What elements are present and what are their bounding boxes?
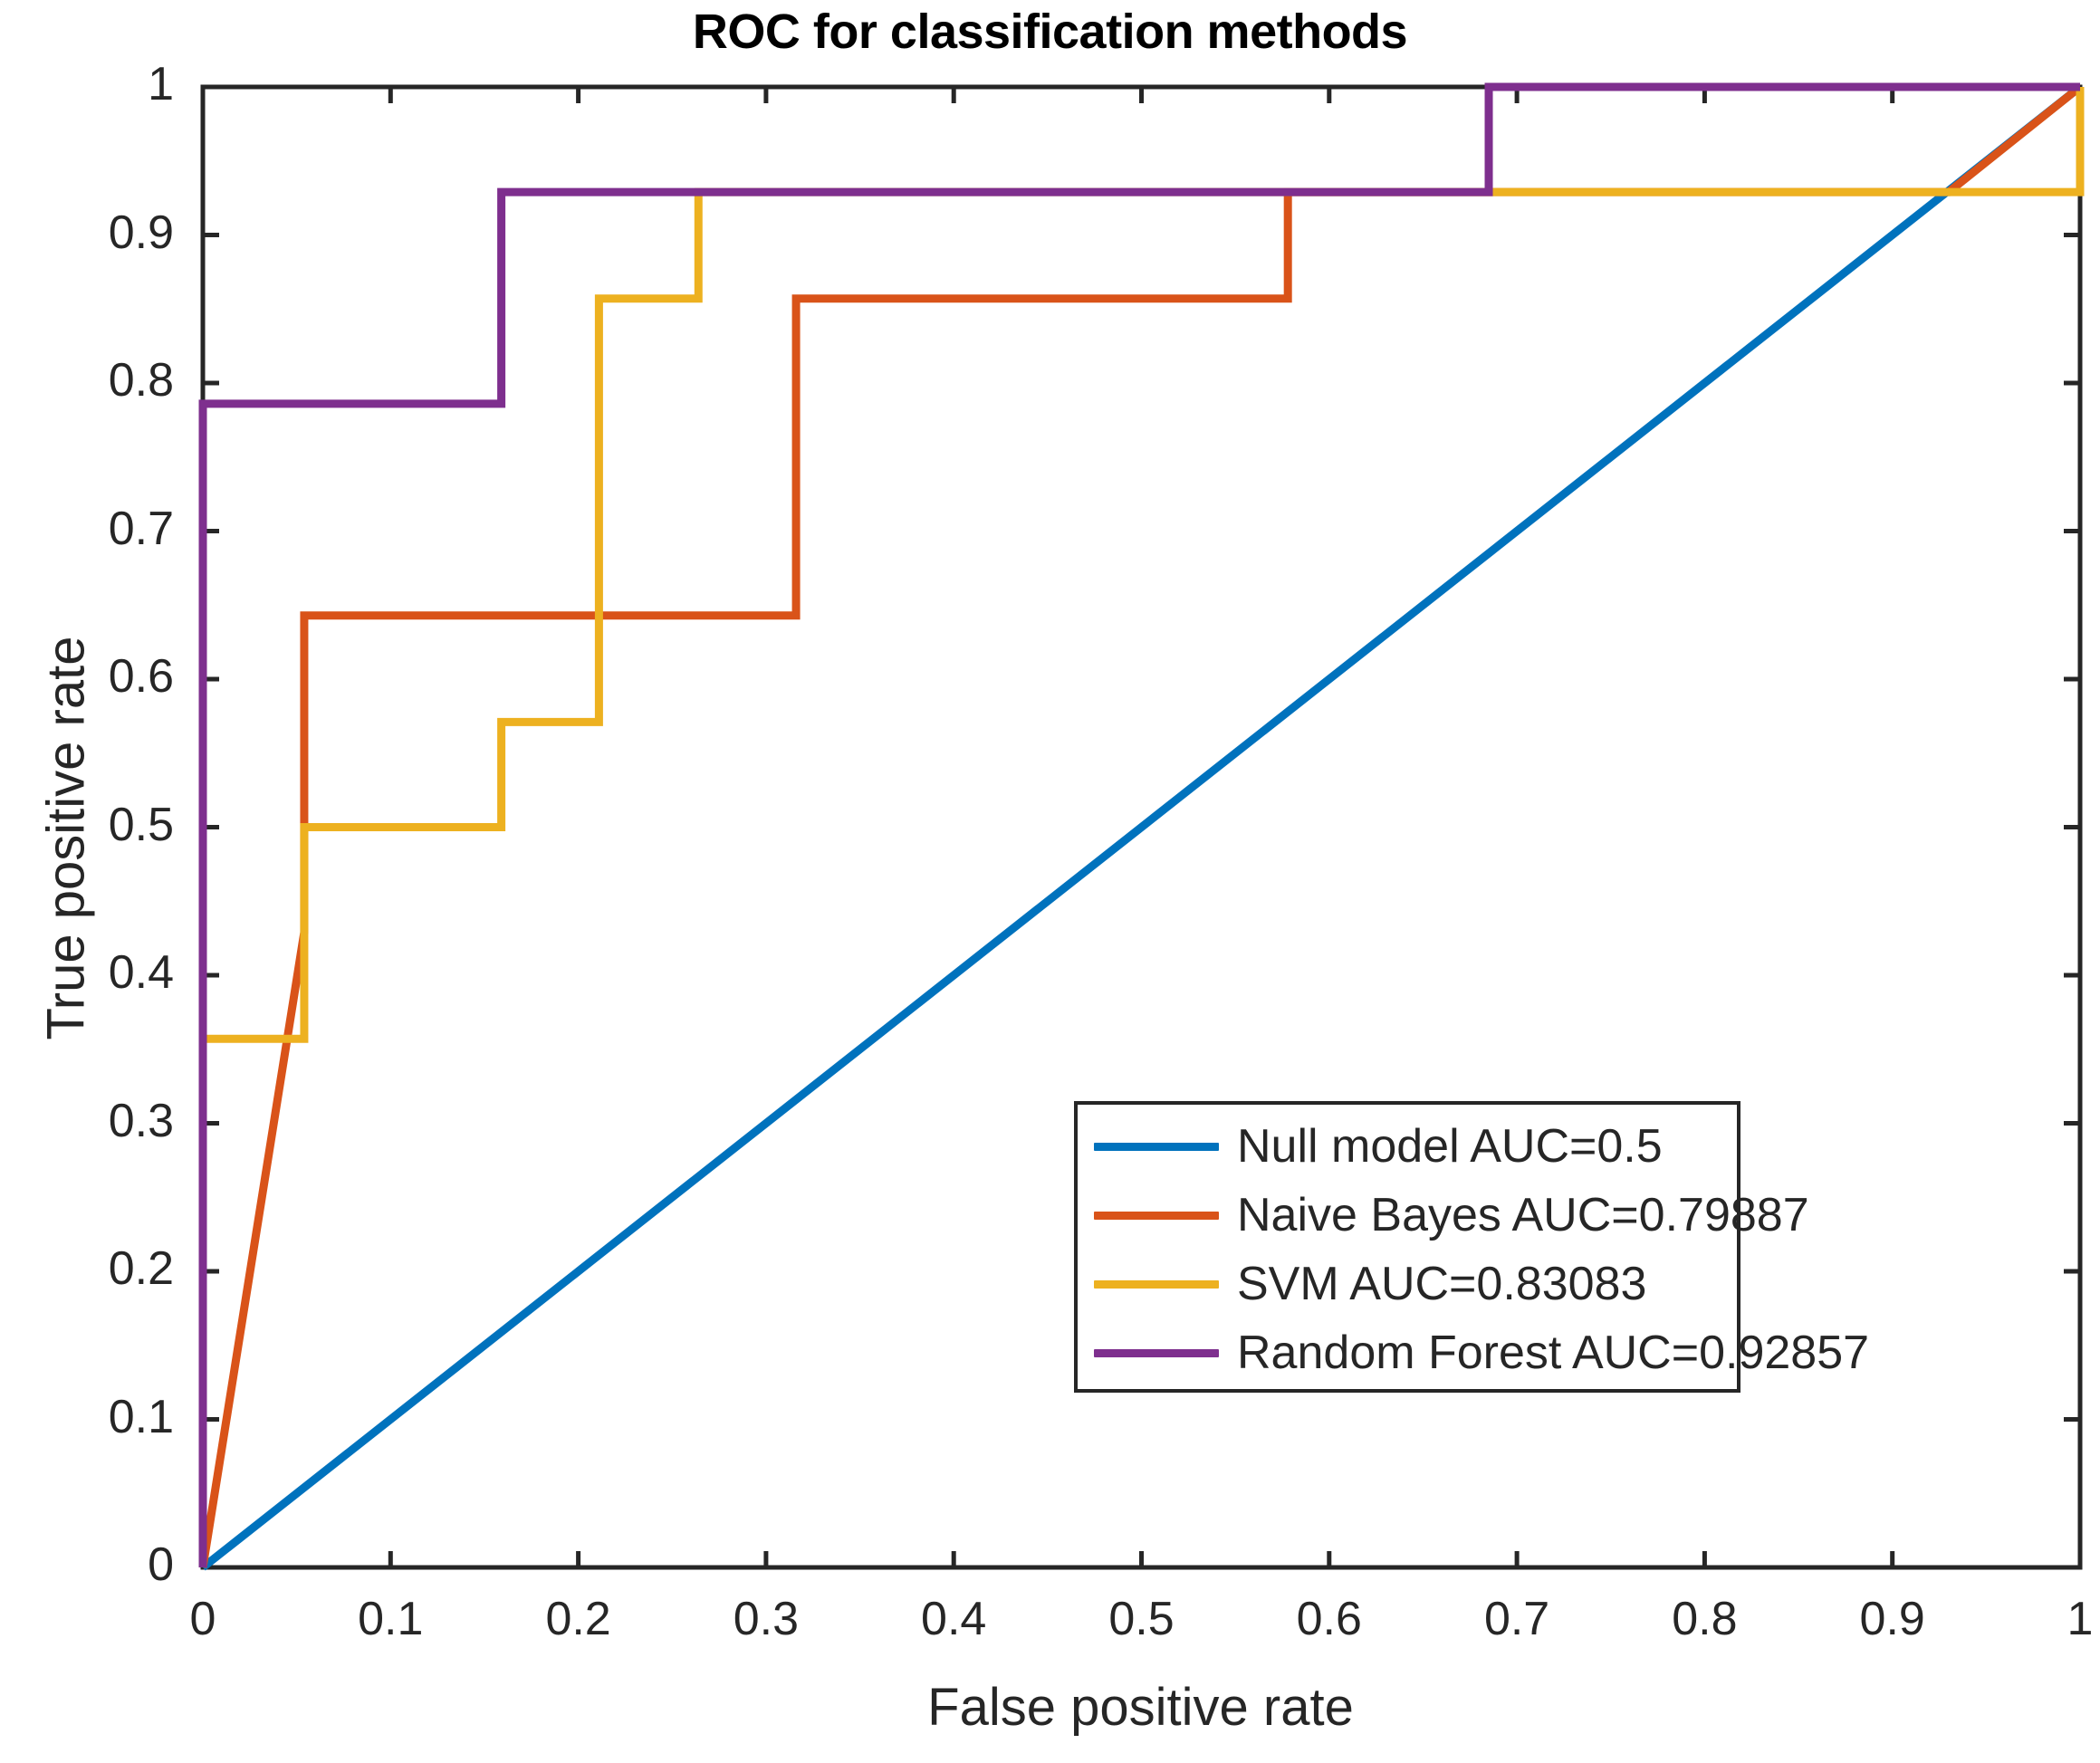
legend-color-swatch — [1094, 1349, 1219, 1357]
legend-item[interactable]: Random Forest AUC=0.92857 — [1078, 1318, 1737, 1387]
roc-chart-figure: ROC for classification methods 00.10.20.… — [0, 0, 2100, 1763]
legend: Null model AUC=0.5Naive Bayes AUC=0.7988… — [1074, 1101, 1740, 1393]
legend-item-label: Naive Bayes AUC=0.79887 — [1237, 1192, 1809, 1239]
x-tick-label: 0.5 — [1069, 1592, 1214, 1646]
y-tick-label: 0.8 — [11, 353, 174, 407]
legend-color-swatch — [1094, 1280, 1219, 1289]
x-tick-label: 0.8 — [1632, 1592, 1777, 1646]
x-tick-label: 0.6 — [1257, 1592, 1402, 1646]
x-tick-label: 1 — [2008, 1592, 2100, 1646]
y-tick-label: 0.2 — [11, 1241, 174, 1296]
x-tick-label: 0.4 — [881, 1592, 1026, 1646]
x-tick-label: 0.9 — [1820, 1592, 1965, 1646]
y-tick-label: 0.1 — [11, 1390, 174, 1444]
x-tick-label: 0.3 — [694, 1592, 839, 1646]
legend-color-swatch — [1094, 1143, 1219, 1151]
y-tick-label: 1 — [11, 57, 174, 111]
legend-item-label: Null model AUC=0.5 — [1237, 1123, 1663, 1170]
plot-area — [0, 0, 2100, 1763]
x-tick-label: 0.7 — [1444, 1592, 1589, 1646]
legend-item-label: Random Forest AUC=0.92857 — [1237, 1329, 1869, 1376]
x-axis-label: False positive rate — [201, 1677, 2080, 1738]
y-axis-label: True positive rate — [36, 476, 97, 1201]
y-tick-label: 0 — [11, 1538, 174, 1592]
legend-item[interactable]: SVM AUC=0.83083 — [1078, 1250, 1737, 1318]
y-tick-label: 0.9 — [11, 206, 174, 260]
x-tick-label: 0 — [130, 1592, 275, 1646]
legend-item[interactable]: Null model AUC=0.5 — [1078, 1112, 1737, 1181]
x-tick-label: 0.2 — [506, 1592, 651, 1646]
legend-item-label: SVM AUC=0.83083 — [1237, 1260, 1646, 1308]
legend-item[interactable]: Naive Bayes AUC=0.79887 — [1078, 1181, 1737, 1250]
x-tick-label: 0.1 — [318, 1592, 463, 1646]
legend-color-swatch — [1094, 1212, 1219, 1220]
series-line-2 — [203, 87, 2080, 1039]
